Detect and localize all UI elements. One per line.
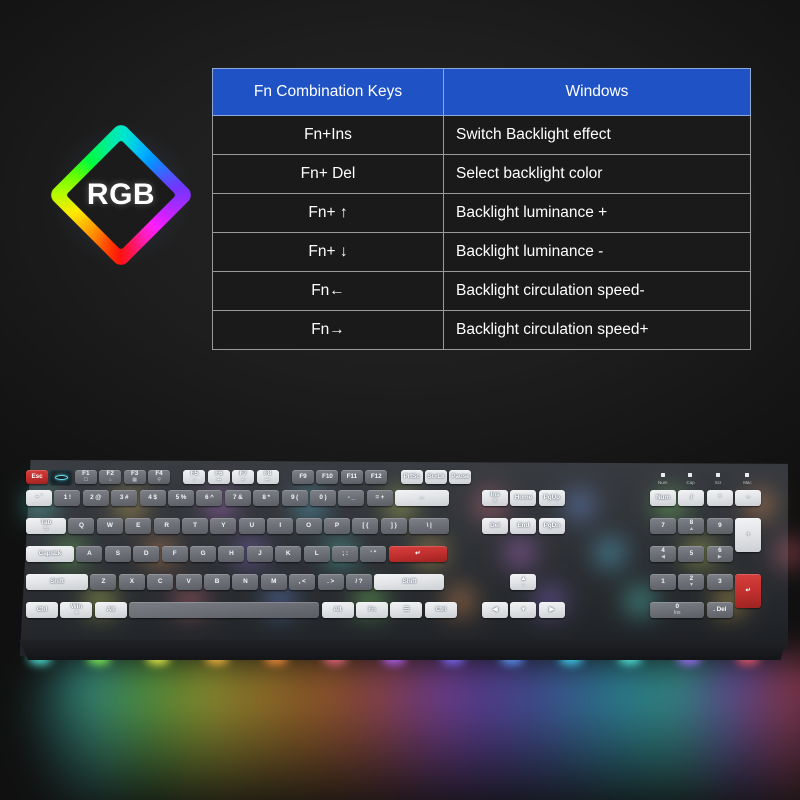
keyboard-body: EscF1☐F2⌂F3▦F4⚲F5♪F6⏮F7⏯F8⏭F9F10F11F12Pr… [12, 460, 788, 660]
keycap-f1[interactable]: F1☐ [75, 470, 97, 484]
keycap-f[interactable]: F [162, 546, 188, 562]
keycap-legend-stack: Win❖ [71, 604, 82, 617]
keycap-alt[interactable]: Alt [322, 602, 354, 618]
indicator-led-icon [688, 473, 692, 477]
keycap-legend-stack: 0Ins [674, 604, 680, 617]
desk-glow-blob [667, 658, 800, 800]
keycap-legend-stack: 8▲ [689, 520, 694, 533]
keycap-legend-stack: Tab↹ [41, 520, 52, 533]
keycap-backspace[interactable]: ← [395, 490, 449, 506]
desk-glow-blob [549, 658, 699, 800]
desk-glow-blob [195, 658, 345, 800]
cell-action: Backlight circulation speed- [444, 272, 751, 311]
desk-glow-blob [490, 658, 640, 800]
keycap-win[interactable]: Win❖ [60, 602, 92, 618]
keycap-plus[interactable]: + [735, 518, 761, 552]
cell-fn-combo: Fn→ [213, 311, 444, 350]
keycap-1[interactable]: 1 ! [54, 490, 80, 506]
keycap-sublegend: ⌘ [493, 499, 498, 504]
keycap-legend-stack: 4◀ [661, 548, 665, 561]
desk-glow-blob [254, 658, 404, 800]
keycap-8[interactable]: 8 * [253, 490, 279, 506]
keycap-t[interactable]: T [182, 518, 208, 534]
keycap-legend-stack: F3▦ [131, 471, 138, 484]
keycap-sublegend: ⚲ [157, 478, 161, 483]
keycap-legend: F1 [82, 471, 89, 477]
keycap-f7[interactable]: F7⏯ [232, 470, 254, 484]
keycap-legend: 8 [690, 520, 693, 526]
keycap-arrow-up[interactable]: ▲☼ [510, 574, 536, 590]
keycap-sublegend: Ins [674, 611, 680, 616]
indicator-mac: Mac [743, 473, 751, 485]
table-row: Fn←Backlight circulation speed- [213, 272, 751, 311]
table-row: Fn+InsSwitch Backlight effect [213, 116, 751, 155]
keycap-legend-stack: F8⏭ [264, 471, 271, 484]
indicator-label: Num [658, 480, 667, 485]
keycap-f8[interactable]: F8⏭ [257, 470, 279, 484]
keycap-f4[interactable]: F4⚲ [148, 470, 170, 484]
keycap-sublegend: ↹ [44, 527, 48, 532]
keycap-pause[interactable]: Pause [449, 470, 471, 484]
keycap-u[interactable]: U [239, 518, 265, 534]
keycap-9[interactable]: 9 ( [282, 490, 308, 506]
keycap-minus[interactable]: − [735, 490, 761, 506]
keycap-sublegend: ☼ [521, 583, 525, 588]
keycap-legend: F4 [155, 471, 162, 477]
keycap-del[interactable]: Del [482, 518, 508, 534]
keycap-capslk[interactable]: CapsLk [26, 546, 74, 562]
keycap-sublegend: ⏯ [241, 478, 245, 483]
keycap-legend-stack: 6▶ [718, 548, 722, 561]
table-row: Fn+ DelSelect backlight color [213, 155, 751, 194]
indicator-led-icon [716, 473, 720, 477]
keycap-x[interactable]: X [119, 574, 145, 590]
rgb-badge-label: RGB [48, 122, 194, 268]
keycap-4[interactable]: 4◀ [650, 546, 676, 562]
cell-action: Backlight luminance - [444, 233, 751, 272]
keycap-prtsc[interactable]: PrtSc [401, 470, 423, 484]
keycap-pgdn[interactable]: PgDn [539, 518, 565, 534]
keycap-6[interactable]: 6▶ [707, 546, 733, 562]
keycap-f12[interactable]: F12 [365, 470, 387, 484]
keycap-legend: 0 [675, 604, 678, 610]
keycap-pgup[interactable]: PgUp [539, 490, 565, 506]
indicator-label: Mac [743, 480, 751, 485]
keycap-legend-stack: 2▼ [689, 576, 694, 589]
keycap-f6[interactable]: F6⏮ [208, 470, 230, 484]
keycap-f3[interactable]: F3▦ [124, 470, 146, 484]
keycap-esc[interactable]: Esc [26, 470, 48, 484]
keycap-5[interactable]: 5 % [168, 490, 194, 506]
keycap-s[interactable]: S [105, 546, 131, 562]
table-body: Fn+InsSwitch Backlight effectFn+ DelSele… [213, 116, 751, 350]
keycap-h[interactable]: H [218, 546, 244, 562]
desk-glow-blob [136, 658, 286, 800]
keycap-brand-logo[interactable] [50, 470, 72, 484]
desk-glow-blob [77, 658, 227, 800]
keycap-q[interactable]: Q [68, 518, 94, 534]
keycap-d[interactable]: D [133, 546, 159, 562]
keycap-g[interactable]: G [190, 546, 216, 562]
cell-fn-combo: Fn← [213, 272, 444, 311]
keycap-sublegend: ♪ [193, 478, 195, 483]
keycap-legend: 6 [718, 548, 721, 554]
keycap-sublegend: ▲ [689, 527, 694, 532]
keycap-ins[interactable]: Ins⌘ [482, 490, 508, 506]
indicator-led-icon [745, 473, 749, 477]
keycap-z[interactable]: Z [90, 574, 116, 590]
keycap-alt[interactable]: Alt [95, 602, 127, 618]
keycap-end[interactable]: End [510, 518, 536, 534]
keycap-n[interactable]: N [232, 574, 258, 590]
keycap-arrow-left[interactable]: ◀ [482, 602, 508, 618]
keycap-legend-stack: F5♪ [191, 471, 198, 484]
indicator-cap: Cap [686, 473, 694, 485]
keycap-0[interactable]: 0Ins [650, 602, 704, 618]
keycap-f11[interactable]: F11 [341, 470, 363, 484]
keycap-divide[interactable]: / [678, 490, 704, 506]
keycap-6[interactable]: 6 ^ [196, 490, 222, 506]
cell-action: Backlight circulation speed+ [444, 311, 751, 350]
keycap-w[interactable]: W [97, 518, 123, 534]
keycap-sublegend: ❖ [74, 611, 78, 616]
keycap-fn[interactable]: Fn [356, 602, 388, 618]
keycap-c[interactable]: C [147, 574, 173, 590]
keycap-legend-stack: F1☐ [82, 471, 89, 484]
keycap-shift[interactable]: Shift [26, 574, 88, 590]
keycap-legend-stack: F7⏯ [240, 471, 247, 484]
keycap-k[interactable]: K [275, 546, 301, 562]
table-row: Fn+ ↑Backlight luminance + [213, 194, 751, 233]
keycap-ctrl[interactable]: Ctrl [26, 602, 58, 618]
keyboard-front-edge [14, 640, 786, 660]
cell-fn-combo: Fn+ Del [213, 155, 444, 194]
keycap-p[interactable]: P [324, 518, 350, 534]
keycap-quote[interactable]: ' " [360, 546, 386, 562]
keycap-sublegend: ⏭ [265, 478, 269, 483]
desk-glow-blob [372, 658, 522, 800]
header-fn-combination-keys: Fn Combination Keys [213, 69, 444, 116]
keycap-2[interactable]: 2▼ [678, 574, 704, 590]
table-row: Fn+ ↓Backlight luminance - [213, 233, 751, 272]
indicator-num: Num [658, 473, 667, 485]
keycap-legend-stack: ▲☼ [520, 576, 526, 589]
keycap-v[interactable]: V [176, 574, 202, 590]
table-header-row: Fn Combination Keys Windows [213, 69, 751, 116]
keycap-tilde[interactable]: ~ ` [26, 490, 52, 506]
keycap-a[interactable]: A [76, 546, 102, 562]
desk-glow-blob [608, 658, 758, 800]
keyboard-photo: EscF1☐F2⌂F3▦F4⚲F5♪F6⏮F7⏯F8⏭F9F10F11F12Pr… [0, 430, 800, 800]
keycap-e[interactable]: E [125, 518, 151, 534]
keycap-j[interactable]: J [247, 546, 273, 562]
keycap-9[interactable]: 9 [707, 518, 733, 534]
cell-fn-combo: Fn+ ↑ [213, 194, 444, 233]
cell-action: Select backlight color [444, 155, 751, 194]
keycap-bracket-right[interactable]: ] } [381, 518, 407, 534]
keycap-sublegend: ☐ [84, 478, 88, 483]
keycap-legend-stack: F4⚲ [155, 471, 162, 484]
keycap-2[interactable]: 2 @ [83, 490, 109, 506]
header-windows: Windows [444, 69, 751, 116]
keycap-sublegend: ⏮ [217, 478, 221, 483]
keycap-enter[interactable]: ↵ [735, 574, 761, 608]
keycap-l[interactable]: L [304, 546, 330, 562]
keycap-0[interactable]: 0 ) [310, 490, 336, 506]
cell-action: Switch Backlight effect [444, 116, 751, 155]
keycap-5[interactable]: 5 [678, 546, 704, 562]
keycap-1[interactable]: 1 [650, 574, 676, 590]
keycap-sublegend: ◀ [661, 555, 665, 560]
keycap-7[interactable]: 7 & [225, 490, 251, 506]
keycap-semicolon[interactable]: ; : [332, 546, 358, 562]
keycap-comma[interactable]: , < [289, 574, 315, 590]
keycap-3[interactable]: 3 [707, 574, 733, 590]
keycap-shift[interactable]: Shift [374, 574, 444, 590]
keycap-legend-stack: Ins⌘ [491, 492, 500, 505]
keycap-decimal-del[interactable]: . Del [707, 602, 733, 618]
desk-glow-blob [18, 658, 168, 800]
keycap-r[interactable]: R [154, 518, 180, 534]
keycap-slash[interactable]: / ? [346, 574, 372, 590]
keycap-sublegend: ▦ [132, 478, 137, 483]
indicator-scr: Scr [715, 473, 722, 485]
keycap-scrlk[interactable]: ScrLk [425, 470, 447, 484]
desk-glow-blob [726, 658, 800, 800]
keycap-legend: 2 [690, 576, 693, 582]
keycap-period[interactable]: . > [318, 574, 344, 590]
keycap-f5[interactable]: F5♪ [183, 470, 205, 484]
keycap-o[interactable]: O [296, 518, 322, 534]
keycap-8[interactable]: 8▲ [678, 518, 704, 534]
keycap-m[interactable]: M [261, 574, 287, 590]
keycap-legend-stack: F6⏮ [215, 471, 222, 484]
keycap-i[interactable]: I [267, 518, 293, 534]
cell-fn-combo: Fn+Ins [213, 116, 444, 155]
keycap-minus[interactable]: - _ [338, 490, 364, 506]
keycap-legend: 4 [661, 548, 664, 554]
keycap-enter[interactable]: ↵ [389, 546, 447, 562]
keycap-3[interactable]: 3 # [111, 490, 137, 506]
product-infographic: RGB Fn Combination Keys Windows Fn+InsSw… [0, 0, 800, 800]
desk-glow-blob [431, 658, 581, 800]
brand-eye-icon [55, 475, 68, 480]
indicator-led-icon [661, 473, 665, 477]
keycap-y[interactable]: Y [210, 518, 236, 534]
rgb-logo-badge: RGB [48, 122, 194, 268]
keycap-7[interactable]: 7 [650, 518, 676, 534]
table-row: Fn→Backlight circulation speed+ [213, 311, 751, 350]
indicator-label: Cap [686, 480, 694, 485]
keycap-menu[interactable]: ☰ [390, 602, 422, 618]
cell-action: Backlight luminance + [444, 194, 751, 233]
keycap-backslash[interactable]: \ | [409, 518, 449, 534]
keycap-ctrl[interactable]: Ctrl [425, 602, 457, 618]
keycap-f10[interactable]: F10 [316, 470, 338, 484]
keycap-asterisk[interactable]: * [707, 490, 733, 506]
keycap-b[interactable]: B [204, 574, 230, 590]
keycap-home[interactable]: Home [510, 490, 536, 506]
keycap-legend-stack: F2⌂ [107, 471, 114, 484]
keycap-arrow-right[interactable]: ▶ [539, 602, 565, 618]
keycap-tab[interactable]: Tab↹ [26, 518, 66, 534]
rgb-desk-reflection [0, 658, 800, 800]
keycap-arrow-down[interactable]: ▼ [510, 602, 536, 618]
keycap-space[interactable] [129, 602, 319, 618]
keycap-sublegend: ▶ [718, 555, 722, 560]
keycap-num[interactable]: Num [650, 490, 676, 506]
keycap-f9[interactable]: F9 [292, 470, 314, 484]
keycap-bracket-left[interactable]: [ { [352, 518, 378, 534]
desk-glow-blob [313, 658, 463, 800]
keycap-legend: F3 [131, 471, 138, 477]
keycap-sublegend: ⌂ [109, 478, 112, 483]
keycap-4[interactable]: 4 $ [140, 490, 166, 506]
keycap-legend: F2 [107, 471, 114, 477]
cell-fn-combo: Fn+ ↓ [213, 233, 444, 272]
keycap-equals[interactable]: = + [367, 490, 393, 506]
fn-combination-table: Fn Combination Keys Windows Fn+InsSwitch… [212, 68, 751, 350]
keycap-sublegend: ▼ [689, 583, 694, 588]
keycap-f2[interactable]: F2⌂ [99, 470, 121, 484]
indicator-label: Scr [715, 480, 722, 485]
